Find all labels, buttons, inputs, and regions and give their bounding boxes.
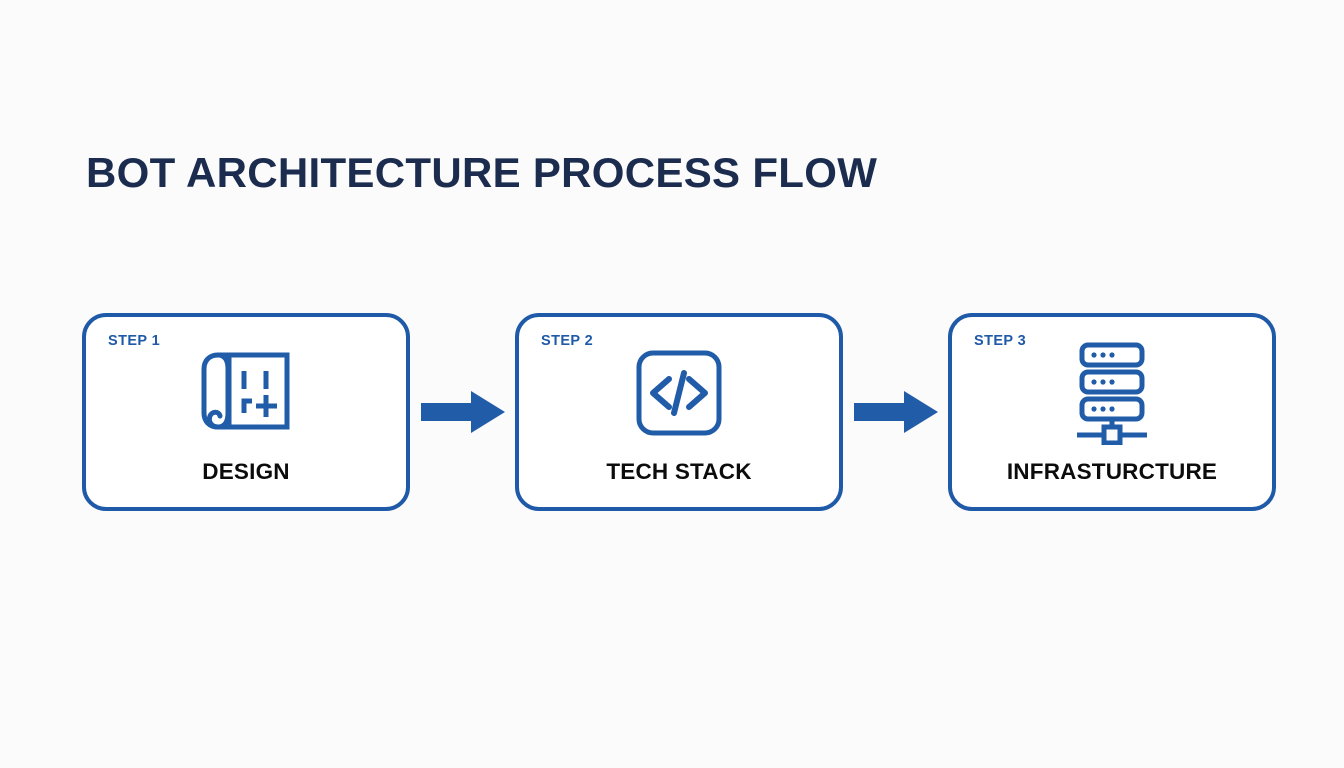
flow-card-step-3[interactable]: STEP 3 bbox=[948, 313, 1276, 511]
server-stack-icon bbox=[952, 343, 1272, 443]
blueprint-icon bbox=[86, 343, 406, 443]
slide-canvas: BOT ARCHITECTURE PROCESS FLOW STEP 1 bbox=[0, 0, 1344, 768]
step-title-1: DESIGN bbox=[86, 459, 406, 485]
arrow-right-icon bbox=[843, 390, 948, 434]
step-title-2: TECH STACK bbox=[519, 459, 839, 485]
step-title-3: INFRASTURCTURE bbox=[952, 459, 1272, 485]
page-title: BOT ARCHITECTURE PROCESS FLOW bbox=[86, 150, 877, 196]
process-flow-row: STEP 1 bbox=[82, 312, 1258, 512]
arrow-right-icon bbox=[410, 390, 515, 434]
code-icon bbox=[519, 343, 839, 443]
flow-card-step-1[interactable]: STEP 1 bbox=[82, 313, 410, 511]
flow-card-step-2[interactable]: STEP 2 TECH STACK bbox=[515, 313, 843, 511]
